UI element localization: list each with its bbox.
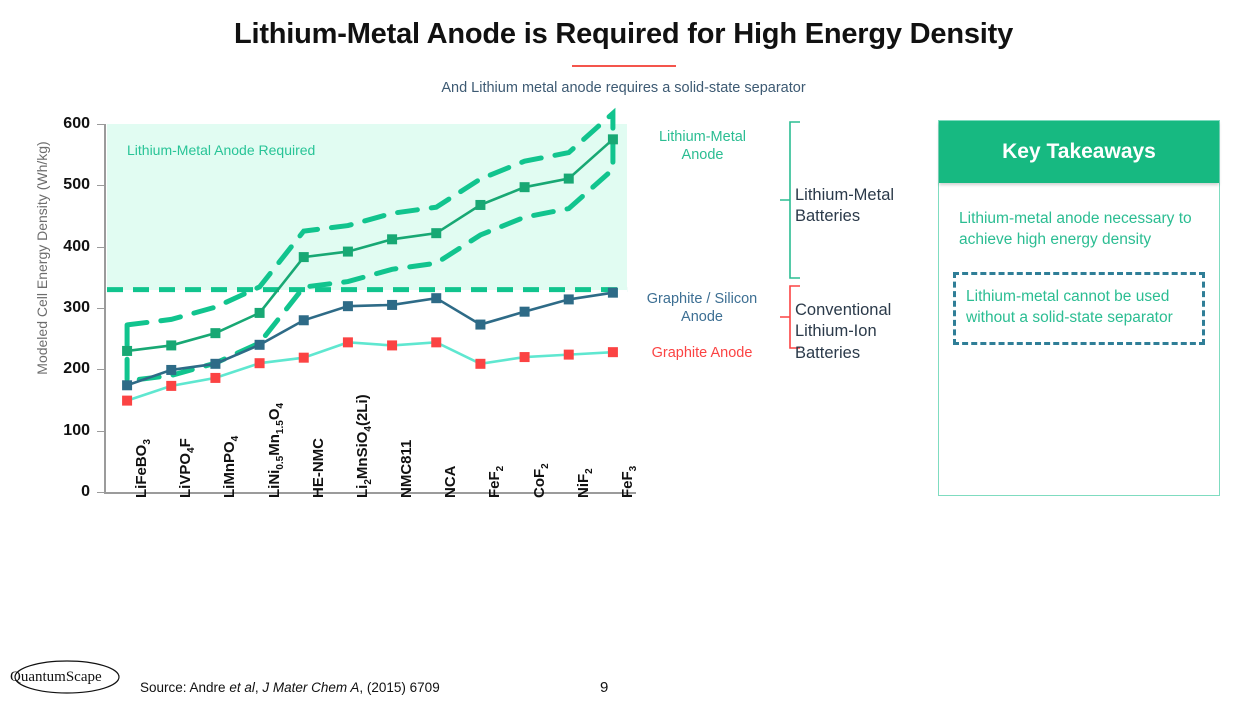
- key-takeaway-item-1: Lithium-metal anode necessary to achieve…: [959, 209, 1199, 250]
- quantumscape-logo-text: QuantumScape: [10, 669, 102, 686]
- legend-graphite-anode: Graphite Anode: [637, 344, 767, 362]
- page-number: 9: [600, 679, 608, 696]
- key-takeaways-panel: Key Takeaways Lithium-metal anode necess…: [938, 120, 1220, 496]
- annotation-brackets: [0, 100, 930, 620]
- key-takeaways-heading: Key Takeaways: [939, 121, 1219, 183]
- group-label-conventional-batteries: ConventionalLithium-IonBatteries: [795, 300, 935, 364]
- energy-density-chart: Modeled Cell Energy Density (Wh/kg) 0100…: [0, 100, 930, 620]
- page-subtitle: And Lithium metal anode requires a solid…: [0, 80, 1247, 96]
- legend-graphite-silicon-anode: Graphite / SiliconAnode: [637, 290, 767, 326]
- source-citation: Source: Andre et al, J Mater Chem A, (20…: [140, 680, 440, 695]
- legend-lithium-metal-anode: Lithium-MetalAnode: [645, 128, 760, 164]
- page-title: Lithium-Metal Anode is Required for High…: [0, 18, 1247, 51]
- title-underline-rule: [572, 65, 676, 67]
- group-label-lithium-metal-batteries: Lithium-MetalBatteries: [795, 185, 935, 228]
- key-takeaway-item-2: Lithium-metal cannot be used without a s…: [966, 287, 1194, 328]
- key-takeaway-highlight-box: Lithium-metal cannot be used without a s…: [953, 272, 1205, 345]
